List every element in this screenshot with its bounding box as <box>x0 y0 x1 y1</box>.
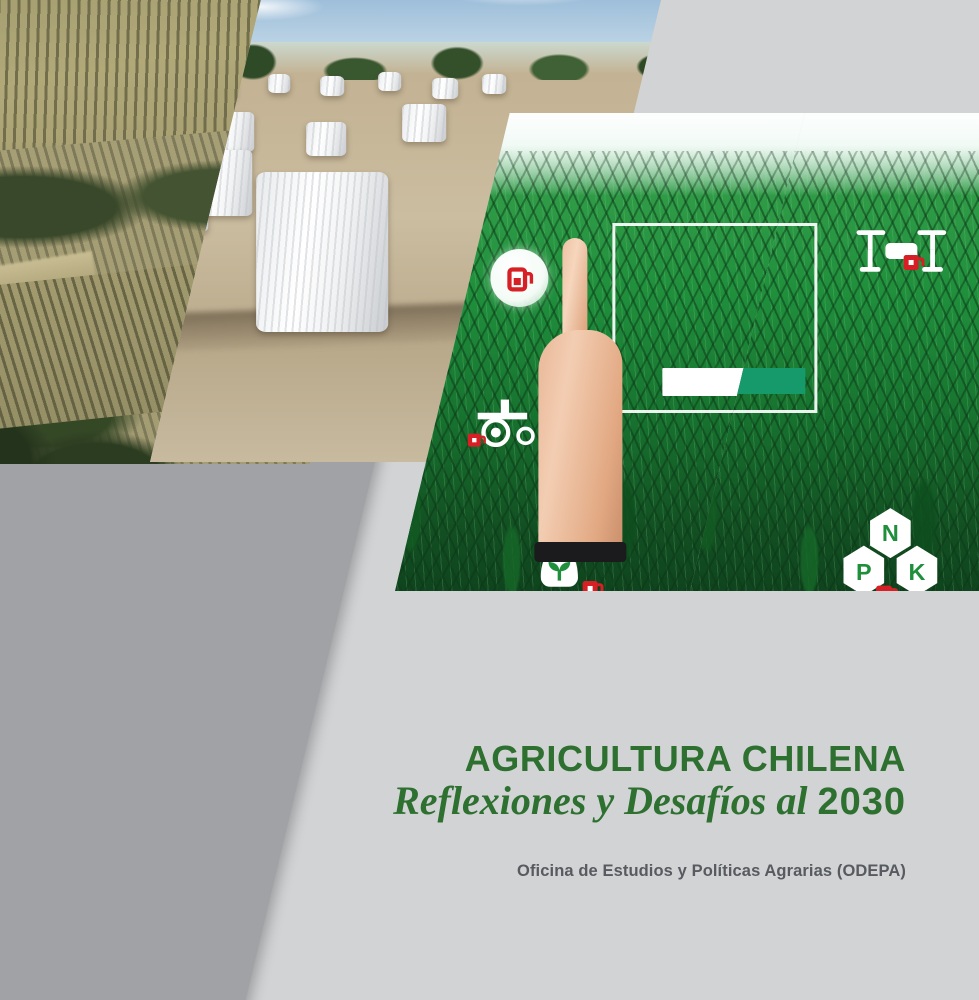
report-cover: N P K AGRICULTURA CHILENA Reflexiones y … <box>0 0 979 1000</box>
fuel-lock-icon[interactable] <box>502 261 536 295</box>
hay-bale <box>320 76 344 96</box>
tractor-lock-badge-icon[interactable] <box>462 425 488 451</box>
hay-bale <box>432 78 458 99</box>
drone-lock-badge-icon[interactable] <box>897 245 927 275</box>
hay-bale <box>306 122 346 156</box>
npk-letter-k: K <box>908 559 925 585</box>
year-2030: 2030 <box>817 781 906 823</box>
hay-bale-foreground <box>256 172 388 332</box>
wrist-band <box>534 542 626 562</box>
publisher-line: Oficina de Estudios y Políticas Agrarias… <box>266 862 906 881</box>
seed-bag-lock-badge-icon[interactable] <box>576 571 606 591</box>
npk-letter-n: N <box>882 520 899 546</box>
title-block: AGRICULTURA CHILENA Reflexiones y Desafí… <box>266 740 906 881</box>
hay-bale <box>482 74 506 94</box>
palm <box>538 330 622 558</box>
npk-lock-badge-icon[interactable] <box>869 575 901 591</box>
hay-bale <box>402 104 446 142</box>
hay-bale <box>378 72 401 91</box>
page-subtitle-italic: Reflexiones y Desafíos al 2030 <box>266 779 906 824</box>
grey-diagonal-band <box>0 440 380 1000</box>
hay-bale <box>268 74 290 93</box>
subtitle-text: Reflexiones y Desafíos al <box>393 778 817 823</box>
pointing-hand <box>532 238 624 558</box>
page-title: AGRICULTURA CHILENA <box>266 740 906 779</box>
